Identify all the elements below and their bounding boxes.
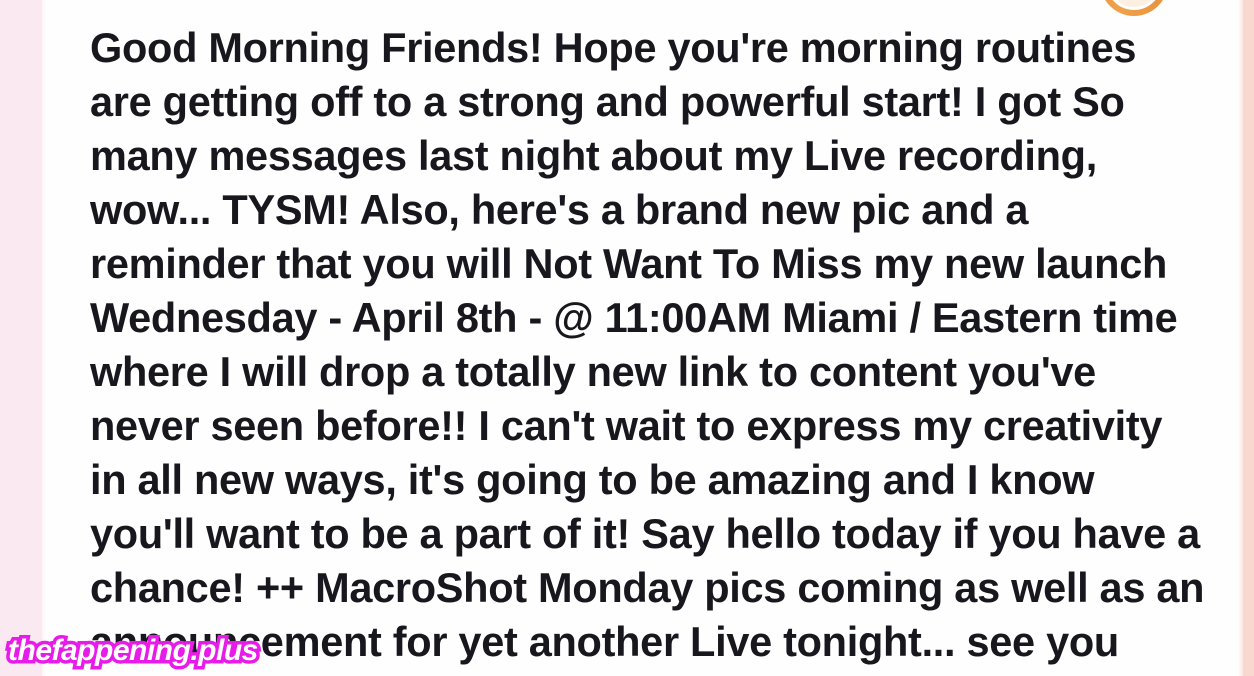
- left-background-strip: [0, 0, 42, 676]
- right-background-strip: [1243, 0, 1254, 676]
- post-screenshot: Good Morning Friends! Hope you're mornin…: [0, 0, 1254, 676]
- site-watermark: thefappening.plus: [8, 633, 258, 669]
- post-caption-text: Good Morning Friends! Hope you're mornin…: [90, 21, 1205, 676]
